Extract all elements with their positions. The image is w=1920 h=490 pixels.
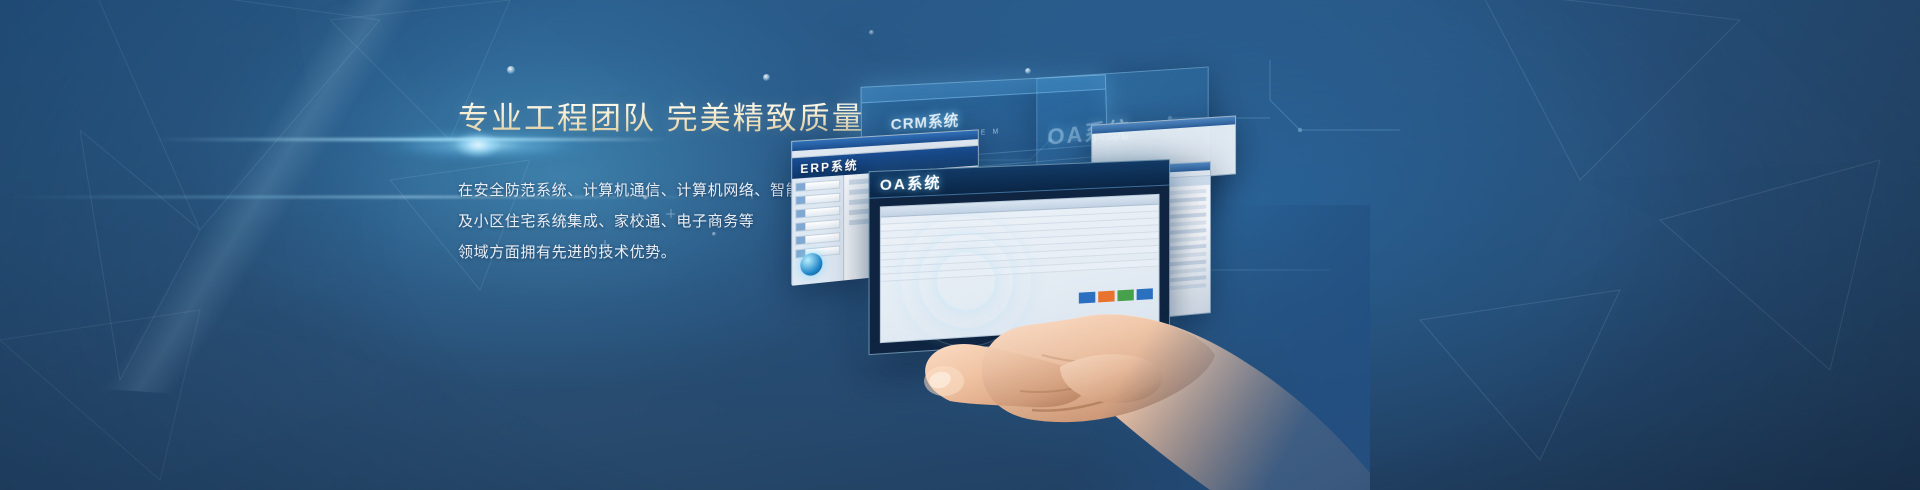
screen-label-erp: ERP系统 xyxy=(800,155,858,176)
crm-title-bar xyxy=(862,75,1106,103)
light-beam xyxy=(75,0,465,412)
hero-banner: 专业工程团队 完美精致质量 在安全防范系统、计算机通信、计算机网络、智能大厦 及… xyxy=(0,0,1920,490)
pointing-hand xyxy=(910,205,1370,490)
screen-label-oa: OA系统 xyxy=(880,171,942,195)
screens-cluster: OA系统 CRM系统 C R M S Y S T E M xyxy=(760,0,1920,490)
bokeh-dot xyxy=(507,66,515,74)
